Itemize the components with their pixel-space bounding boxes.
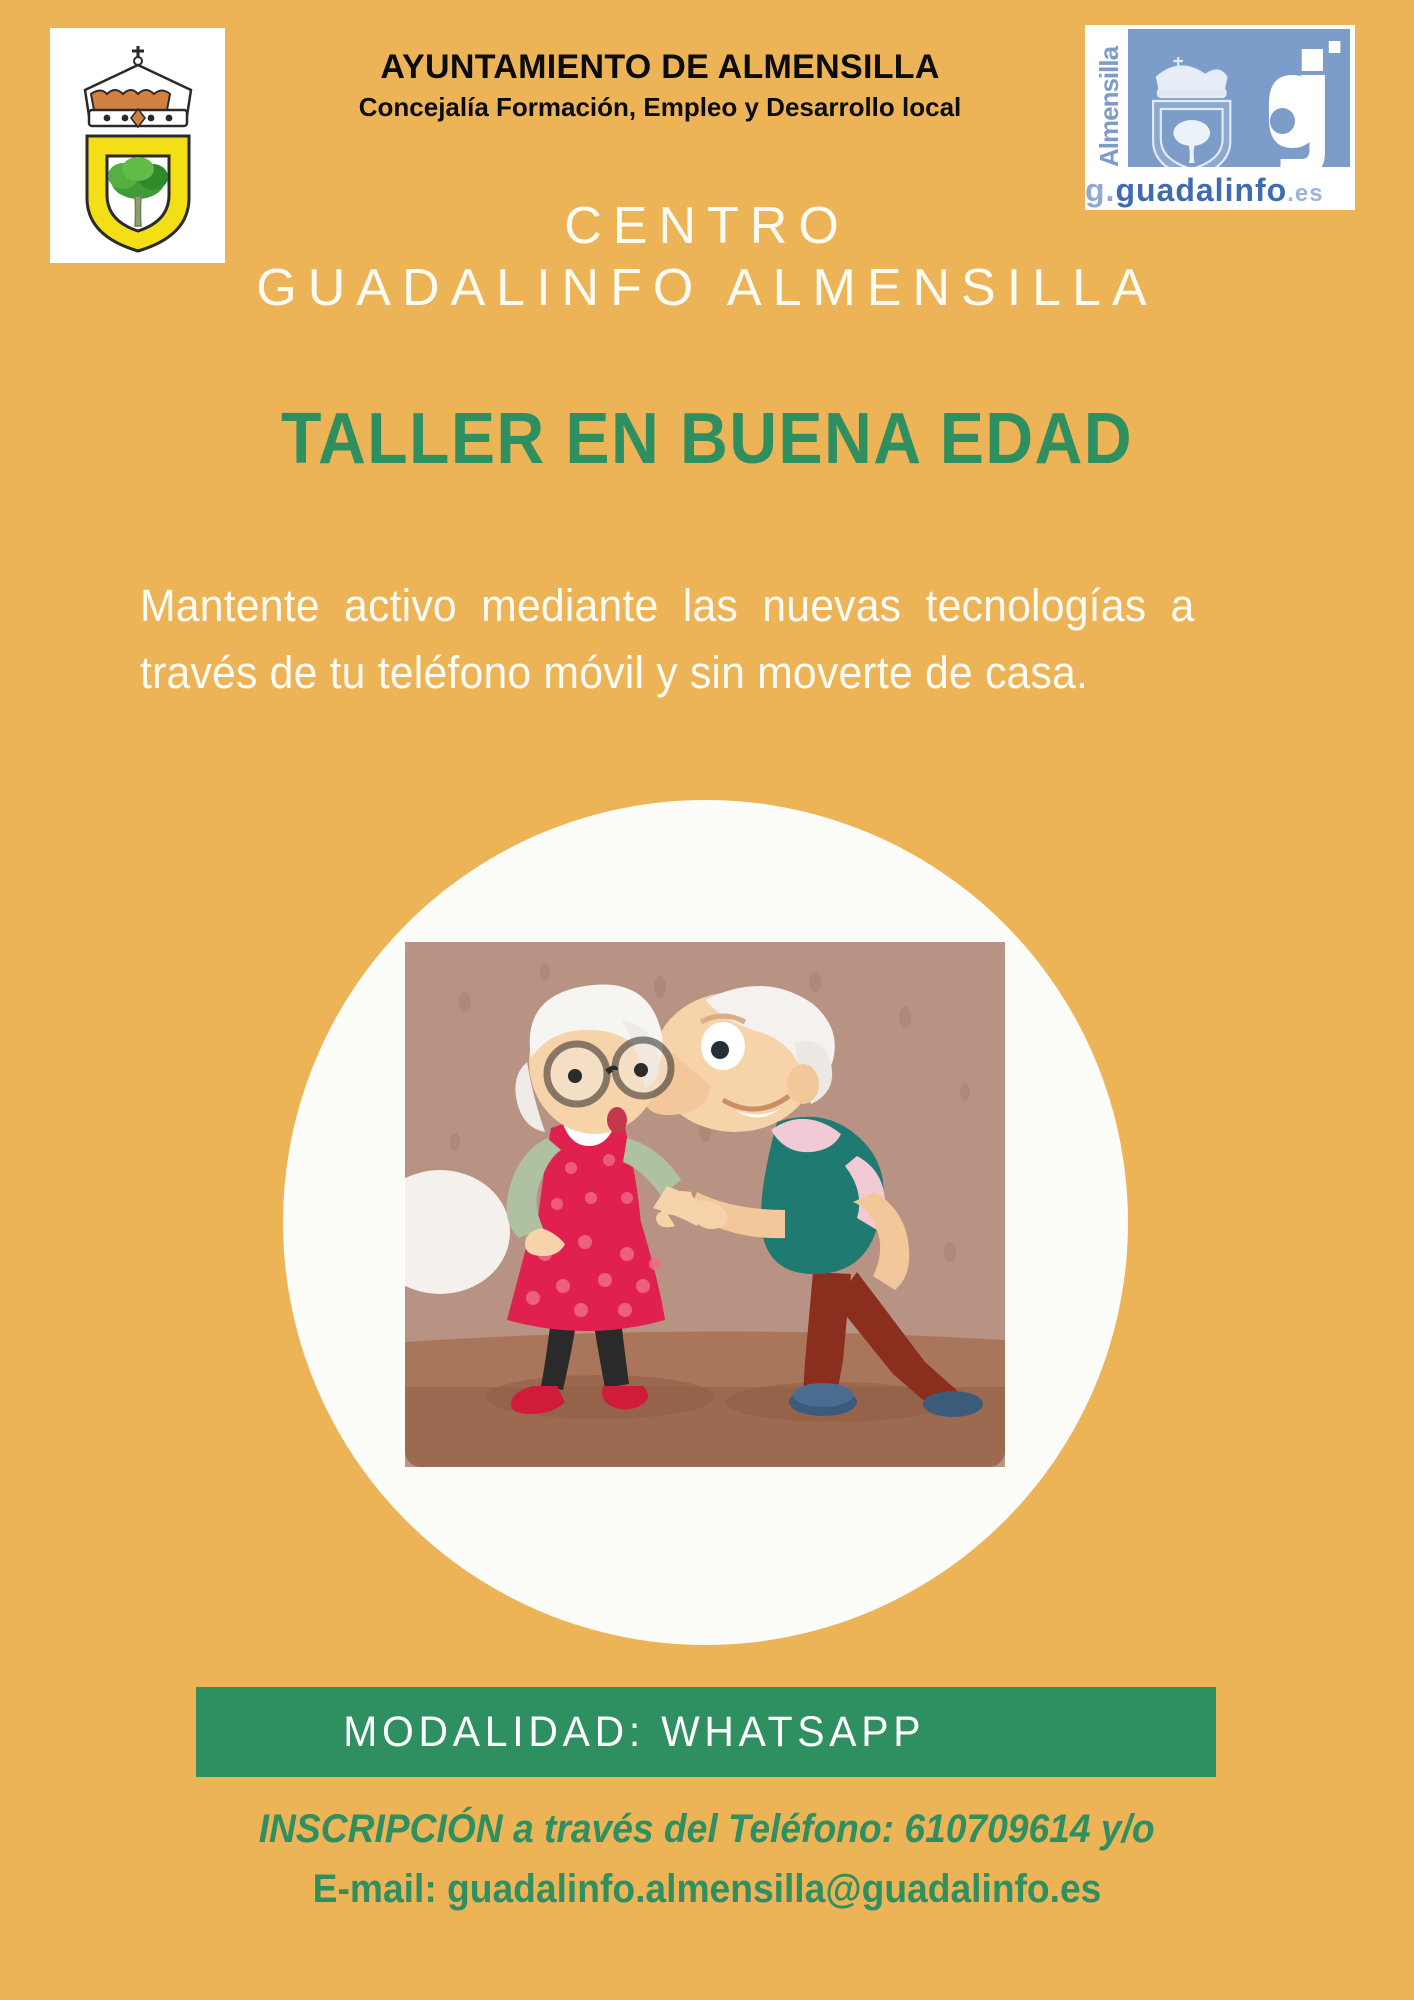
modalidad-banner: MODALIDAD: WHATSAPP — [196, 1687, 1216, 1777]
centro-heading: CENTRO GUADALINFO ALMENSILLA — [0, 195, 1414, 319]
inscription-phone-line[interactable]: INSCRIPCIÓN a través del Teléfono: 61070… — [259, 1800, 1155, 1858]
department-subtitle: Concejalía Formación, Empleo y Desarroll… — [235, 92, 1085, 123]
guadalinfo-logo: Almensilla — [1085, 25, 1355, 210]
elderly-couple-art — [405, 942, 1005, 1467]
organization-title: AYUNTAMIENTO DE ALMENSILLA — [235, 48, 1085, 87]
guadalinfo-blue-panel — [1128, 29, 1350, 167]
guadalinfo-vertical-label: Almensilla — [1092, 29, 1126, 167]
page-title: TALLER EN BUENA EDAD — [57, 398, 1358, 480]
intro-paragraph: Mantente activo mediante las nuevas tecn… — [140, 572, 1195, 706]
contact-line-1-wrapper: INSCRIPCIÓN a través del Teléfono: 61070… — [0, 1800, 1414, 1858]
centro-line-2: GUADALINFO ALMENSILLA — [0, 257, 1414, 319]
guadalinfo-panel-art — [1128, 29, 1350, 167]
contact-line-2-wrapper: E-mail: guadalinfo.almensilla@guadalinfo… — [0, 1858, 1414, 1920]
modalidad-label: MODALIDAD: WHATSAPP — [196, 1708, 925, 1757]
contact-block: INSCRIPCIÓN a través del Teléfono: 61070… — [0, 1800, 1414, 1920]
elderly-couple-dancing-illustration — [405, 942, 1005, 1467]
inscription-email-line[interactable]: E-mail: guadalinfo.almensilla@guadalinfo… — [313, 1858, 1102, 1920]
centro-line-1: CENTRO — [0, 195, 1414, 257]
